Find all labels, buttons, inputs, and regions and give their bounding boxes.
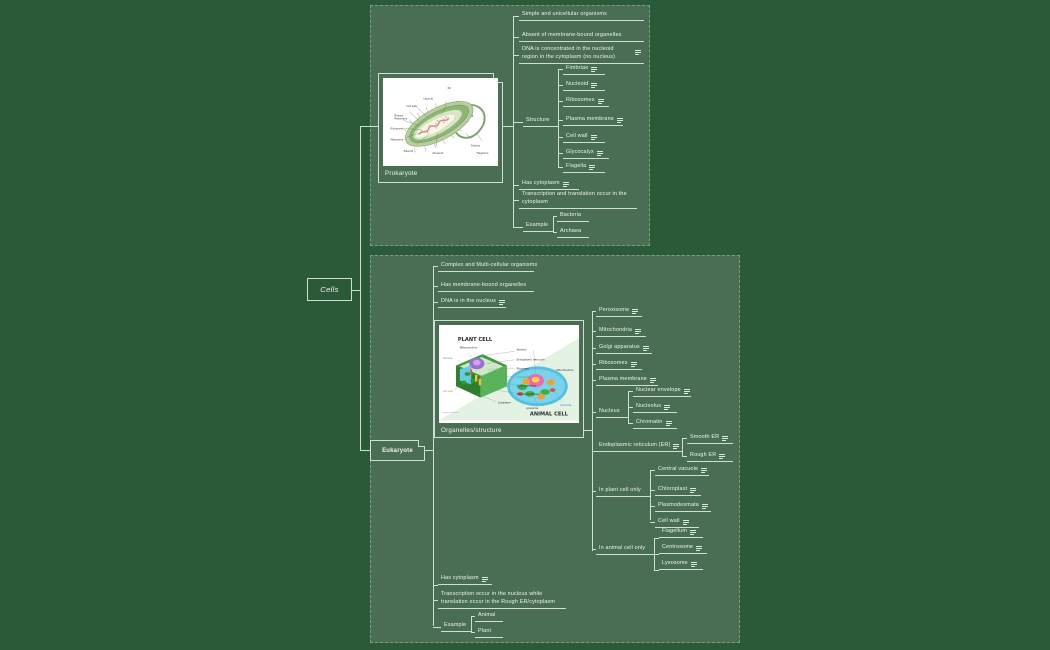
svg-text:Centriole: Centriole: [560, 403, 572, 407]
note-icon[interactable]: [589, 165, 595, 170]
connector-euk-t4: [433, 585, 438, 586]
topic-pk-ribosomes[interactable]: Ribosomes: [563, 95, 609, 107]
connector-euk-example: [433, 627, 441, 628]
topic-label: Nucleoid: [566, 81, 588, 88]
topic-euk-plant[interactable]: Plant: [475, 626, 503, 638]
svg-text:Cell wall: Cell wall: [406, 105, 416, 108]
topic-label: Flagellum: [662, 528, 687, 535]
svg-text:Nucleoid: Nucleoid: [433, 152, 444, 155]
connector-prokaryote-card-out: [503, 126, 513, 127]
topic-label: In plant cell only: [599, 487, 641, 494]
plant-animal-cell-diagram: PLANT CELL ANIMAL CELL Mitochondrion Vac…: [439, 325, 579, 423]
topic-label: Ribosomes: [599, 360, 628, 367]
svg-text:Golgi apparatus: Golgi apparatus: [517, 383, 537, 387]
connector-root-stub: [352, 290, 360, 291]
topic-euk-complex-multicellular[interactable]: Complex and Multi-cellular organisms: [438, 260, 534, 272]
topic-label: Complex and Multi-cellular organisms: [441, 262, 537, 269]
topic-pk-fimbriae[interactable]: Fimbriae: [563, 63, 605, 75]
topic-euk-example[interactable]: Example: [441, 620, 471, 632]
topic-label: Golgi apparatus: [599, 344, 640, 351]
topic-label: Has membrane-bound organelles: [441, 282, 526, 289]
node-fold-corner: [418, 440, 425, 447]
root-node-cells[interactable]: Cells: [307, 278, 352, 301]
note-icon[interactable]: [690, 530, 696, 535]
topic-euk-plasmodesmata[interactable]: Plasmodesmata: [655, 500, 711, 512]
note-icon[interactable]: [683, 520, 689, 525]
topic-euk-nuclear-envelope[interactable]: Nuclear envelope: [633, 385, 691, 397]
mindmap-canvas: Cells: [0, 0, 1050, 650]
topic-label: Ribosomes: [566, 97, 595, 104]
svg-text:Pili: Pili: [448, 87, 452, 90]
topic-pk-transcription-translation[interactable]: Transcription and translation occur in t…: [519, 189, 637, 209]
topic-pk-archaea[interactable]: Archaea: [557, 226, 589, 238]
note-icon[interactable]: [690, 488, 696, 493]
note-icon[interactable]: [597, 151, 603, 156]
topic-label: Flagella: [566, 163, 586, 170]
image-card-caption-prokaryote: Prokaryote: [383, 166, 498, 178]
connector-pk-example-spine: [553, 216, 554, 232]
topic-label: Chloroplast: [658, 486, 687, 493]
topic-pk-dna-nucleoid[interactable]: DNA is concentrated in the nucleoid regi…: [519, 44, 644, 64]
topic-label: Has cytoplasm: [522, 180, 560, 187]
topic-pk-glycocalyx[interactable]: Glycocalyx: [563, 147, 609, 159]
topic-euk-flagellum[interactable]: Flagellum: [659, 526, 703, 538]
topic-label: Centrosome: [662, 544, 693, 551]
svg-text:Plasmid: Plasmid: [404, 150, 414, 153]
topic-label: Rough ER: [690, 452, 716, 459]
topic-label: Plasma membrane: [566, 116, 614, 123]
svg-text:Cytoplasm: Cytoplasm: [498, 400, 512, 404]
topic-pk-nucleoid[interactable]: Nucleoid: [563, 79, 605, 91]
topic-label: Plasmodesmata: [658, 502, 699, 509]
svg-text:ANIMAL CELL: ANIMAL CELL: [530, 412, 569, 418]
svg-text:Fimbria: Fimbria: [471, 144, 480, 147]
topic-euk-nucleolus[interactable]: Nucleolus: [633, 401, 677, 413]
topic-label: Peroxisome: [599, 307, 629, 314]
image-credit: nexcience.com: [443, 412, 459, 414]
topic-euk-dna-nucleus[interactable]: DNA is in the nucleus: [438, 296, 506, 308]
topic-label: DNA is concentrated in the nucleoid regi…: [522, 46, 628, 61]
topic-pk-simple-unicellular[interactable]: Simple and unicellular organisms: [519, 9, 644, 21]
connector-euk-plant-spine: [650, 470, 651, 520]
topic-euk-animal-only[interactable]: In animal cell only: [596, 543, 654, 555]
svg-text:Flagellum: Flagellum: [477, 152, 489, 155]
topic-label: Animal: [478, 612, 496, 619]
note-icon[interactable]: [617, 118, 623, 123]
topic-euk-rough-er[interactable]: Rough ER: [687, 450, 733, 462]
image-card-prokaryote[interactable]: Pili Capsule Cell wall PlasmaMembrane Ri…: [378, 73, 503, 183]
topic-pk-example[interactable]: Example: [523, 220, 553, 232]
svg-text:Vacuole: Vacuole: [443, 356, 453, 360]
connector-euk-card-out: [584, 430, 592, 431]
prokaryote-cell-diagram: Pili Capsule Cell wall PlasmaMembrane Ri…: [383, 78, 498, 166]
svg-text:Endoplasmic reticulum: Endoplasmic reticulum: [517, 358, 546, 362]
note-icon[interactable]: [684, 389, 690, 394]
topic-label: Lysosome: [662, 560, 688, 567]
topic-euk-central-vacuole[interactable]: Central vacuole: [655, 464, 709, 476]
topic-label: Fimbriae: [566, 65, 588, 72]
topic-label: Has cytoplasm: [441, 575, 479, 582]
topic-euk-nucleus[interactable]: Nucleus: [596, 406, 628, 418]
svg-text:Mitochondrion: Mitochondrion: [556, 368, 574, 372]
branch-node-label: Eukaryote: [382, 448, 413, 454]
connector-euk-a3: [654, 570, 659, 571]
topic-pk-absent-organelles[interactable]: Absent of membrane-bound organelles: [519, 30, 644, 42]
note-icon[interactable]: [722, 436, 728, 441]
topic-label: Nucleus: [599, 408, 620, 415]
note-icon[interactable]: [635, 329, 641, 334]
topic-label: Mitochondria: [599, 327, 632, 334]
topic-label: DNA is in the nucleus: [441, 298, 496, 305]
topic-label: Example: [444, 622, 466, 629]
topic-label: Glycocalyx: [566, 149, 594, 156]
topic-label: Smooth ER: [690, 434, 719, 441]
note-icon[interactable]: [598, 99, 604, 104]
topic-label: Absent of membrane-bound organelles: [522, 32, 622, 39]
svg-text:PLANT CELL: PLANT CELL: [458, 337, 493, 343]
svg-text:Plasma membrane: Plasma membrane: [517, 392, 541, 396]
topic-label: Cell wall: [658, 518, 680, 525]
note-icon[interactable]: [673, 444, 679, 449]
topic-label: Central vacuole: [658, 466, 698, 473]
note-icon[interactable]: [702, 504, 708, 509]
topic-euk-animal[interactable]: Animal: [475, 610, 503, 622]
note-icon[interactable]: [664, 405, 670, 410]
connector-root-to-prokaryote: [360, 126, 378, 127]
topic-label: Chromatin: [636, 419, 663, 426]
group-panel-eukaryote: [370, 255, 740, 643]
note-icon[interactable]: [591, 83, 597, 88]
topic-label: In animal cell only: [599, 545, 645, 552]
topic-label: Nuclear envelope: [636, 387, 681, 394]
topic-pk-bacteria[interactable]: Bacteria: [557, 210, 589, 222]
connector-pk-example: [513, 227, 523, 228]
topic-label: Transcription and translation occur in t…: [522, 191, 634, 206]
topic-pk-flagella[interactable]: Flagella: [563, 161, 605, 173]
svg-text:Chloroplast: Chloroplast: [517, 375, 531, 379]
topic-euk-endoplasmic-reticulum[interactable]: Endoplasmic reticulum (ER): [596, 440, 682, 452]
topic-euk-mitochondria[interactable]: Mitochondria: [596, 325, 646, 337]
image-card-organelles[interactable]: PLANT CELL ANIMAL CELL Mitochondrion Vac…: [434, 320, 584, 438]
topic-euk-transcription-translation[interactable]: Transcription occur in the nucleus while…: [438, 589, 566, 609]
topic-label: Plant: [478, 628, 491, 635]
topic-label: Example: [526, 222, 548, 229]
svg-text:Ribosome: Ribosome: [517, 366, 530, 370]
topic-euk-chromatin[interactable]: Chromatin: [633, 417, 677, 429]
topic-label: Plasma membrane: [599, 376, 647, 383]
connector-euk-er-spine: [682, 438, 683, 456]
topic-pk-structure[interactable]: Structure: [523, 115, 558, 127]
note-icon[interactable]: [632, 309, 638, 314]
note-icon[interactable]: [666, 421, 672, 426]
topic-label: Bacteria: [560, 212, 581, 219]
connector-pk-structure: [513, 122, 523, 123]
topic-euk-ribosomes[interactable]: Ribosomes: [596, 358, 642, 370]
note-icon[interactable]: [591, 67, 597, 72]
connector-root-to-eukaryote: [360, 450, 370, 451]
svg-text:Membrane: Membrane: [394, 118, 407, 121]
note-icon[interactable]: [482, 577, 488, 582]
root-node-label: Cells: [320, 285, 338, 294]
note-icon[interactable]: [563, 182, 569, 187]
connector-euk-a2: [654, 554, 659, 555]
topic-euk-golgi-apparatus[interactable]: Golgi apparatus: [596, 342, 652, 354]
image-card-caption-organelles: Organelles/structure: [439, 423, 579, 435]
note-icon[interactable]: [631, 362, 637, 367]
topic-label: Nucleolus: [636, 403, 661, 410]
topic-euk-has-organelles[interactable]: Has membrane-bound organelles: [438, 280, 534, 292]
topic-euk-has-cytoplasm[interactable]: Has cytoplasm: [438, 573, 492, 585]
connector-euk-example-spine: [471, 616, 472, 632]
topic-pk-cell-wall[interactable]: Cell wall: [563, 131, 605, 143]
topic-euk-peroxisome[interactable]: Peroxisome: [596, 305, 642, 317]
svg-text:Mesosome: Mesosome: [390, 139, 403, 142]
topic-label: Cell wall: [566, 133, 588, 140]
topic-label: Structure: [526, 117, 550, 124]
note-icon[interactable]: [719, 454, 725, 459]
connector-root-spine: [360, 126, 361, 451]
svg-text:Lysosome: Lysosome: [526, 406, 539, 410]
topic-euk-lysosome[interactable]: Lysosome: [659, 558, 703, 570]
topic-label: Simple and unicellular organisms: [522, 11, 607, 18]
note-icon[interactable]: [696, 546, 702, 551]
svg-text:Capsule: Capsule: [423, 98, 433, 101]
connector-euk-organelle-spine: [592, 311, 593, 551]
connector-euk-node-out: [425, 450, 433, 451]
topic-euk-plant-only[interactable]: In plant cell only: [596, 485, 650, 497]
branch-node-eukaryote[interactable]: Eukaryote: [370, 440, 425, 461]
topic-label: Transcription occur in the nucleus while…: [441, 591, 563, 606]
svg-text:Ribosome: Ribosome: [390, 127, 402, 130]
topic-pk-plasma-membrane[interactable]: Plasma membrane: [563, 114, 623, 126]
topic-euk-chloroplast[interactable]: Chloroplast: [655, 484, 701, 496]
note-icon[interactable]: [650, 378, 656, 383]
note-icon[interactable]: [499, 300, 505, 305]
topic-label: Archaea: [560, 228, 581, 235]
topic-euk-smooth-er[interactable]: Smooth ER: [687, 432, 733, 444]
topic-euk-centrosome[interactable]: Centrosome: [659, 542, 707, 554]
note-icon[interactable]: [591, 135, 597, 140]
svg-text:Cell wall: Cell wall: [443, 389, 454, 393]
note-icon[interactable]: [635, 50, 641, 55]
connector-euk-a1: [654, 538, 659, 539]
note-icon[interactable]: [691, 562, 697, 567]
note-icon[interactable]: [701, 468, 707, 473]
note-icon[interactable]: [643, 346, 649, 351]
topic-label: Endoplasmic reticulum (ER): [599, 442, 670, 449]
svg-text:Nucleus: Nucleus: [517, 347, 527, 351]
svg-text:Mitochondrion: Mitochondrion: [460, 345, 478, 349]
